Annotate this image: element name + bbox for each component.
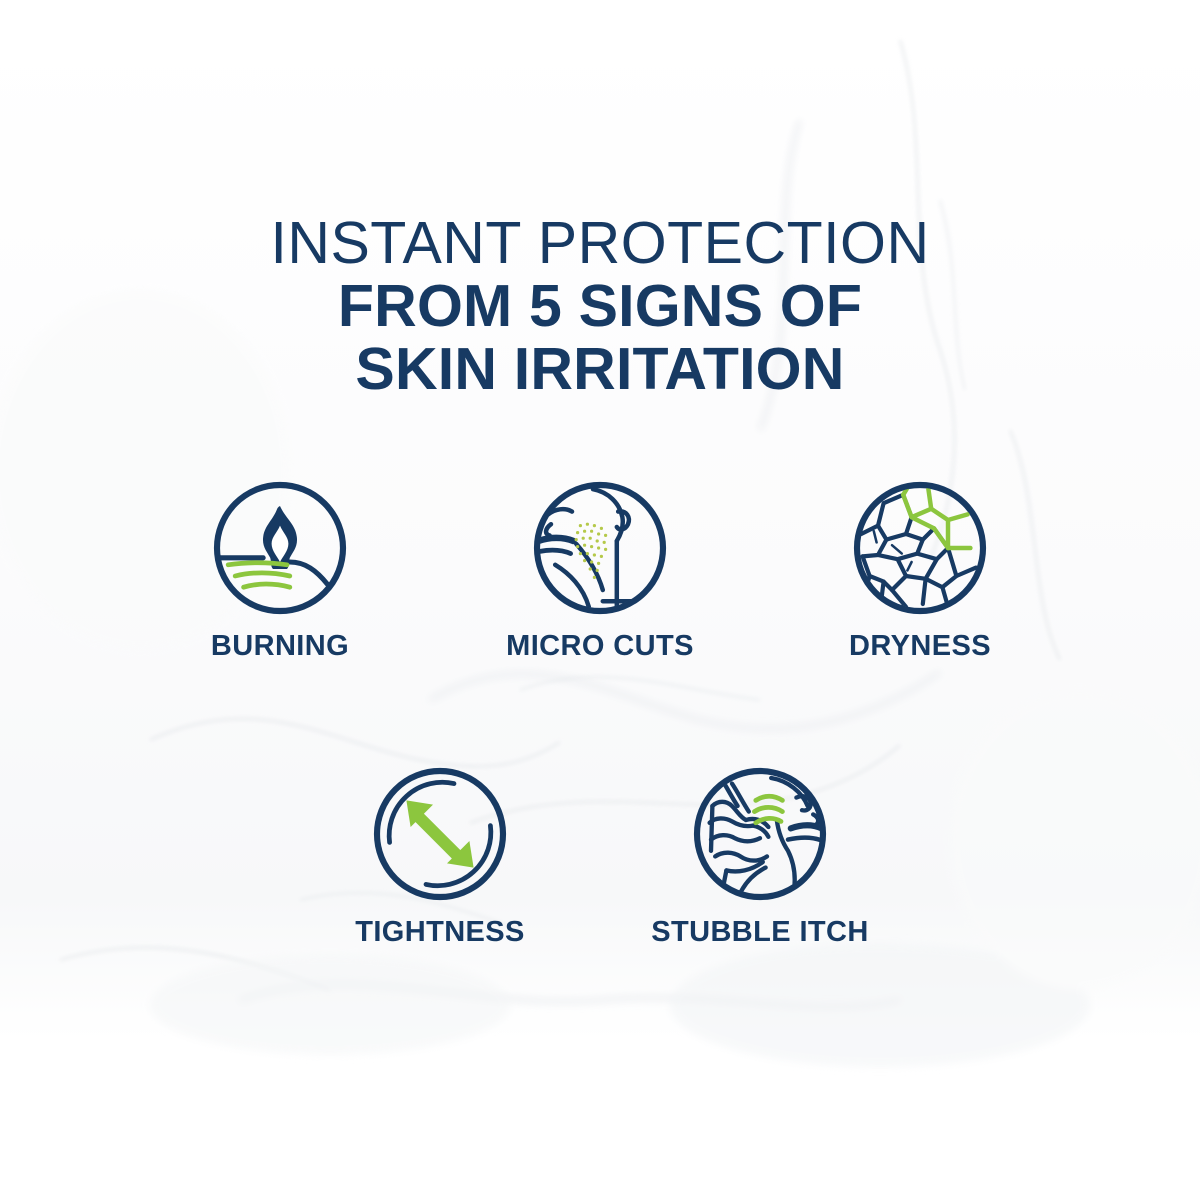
poster-canvas: INSTANT PROTECTION FROM 5 SIGNS OF SKIN … bbox=[0, 0, 1200, 1200]
sign-label-burning: BURNING bbox=[211, 630, 349, 663]
stubble-itch-scratching-icon bbox=[690, 764, 830, 904]
sign-item-dryness[interactable]: DRYNESS bbox=[830, 478, 1010, 663]
signs-row-top: BURNING bbox=[0, 478, 1200, 663]
page-title: INSTANT PROTECTION FROM 5 SIGNS OF SKIN … bbox=[0, 214, 1200, 403]
sign-item-micro-cuts[interactable]: MICRO CUTS bbox=[510, 478, 690, 663]
sign-item-burning[interactable]: BURNING bbox=[190, 478, 370, 663]
heading-line-2: FROM 5 SIGNS OF bbox=[0, 277, 1200, 340]
sign-item-stubble-itch[interactable]: STUBBLE ITCH bbox=[670, 764, 850, 949]
signs-row-bottom: TIGHTNESS bbox=[0, 764, 1200, 949]
heading-line-3: SKIN IRRITATION bbox=[0, 340, 1200, 403]
sign-label-stubble-itch: STUBBLE ITCH bbox=[651, 916, 868, 949]
micro-cuts-face-icon bbox=[530, 478, 670, 618]
heading-line-1: INSTANT PROTECTION bbox=[0, 214, 1200, 277]
sign-label-dryness: DRYNESS bbox=[849, 630, 991, 663]
burning-flame-icon bbox=[210, 478, 350, 618]
sign-item-tightness[interactable]: TIGHTNESS bbox=[350, 764, 530, 949]
sign-label-tightness: TIGHTNESS bbox=[355, 916, 525, 949]
sign-label-micro-cuts: MICRO CUTS bbox=[506, 630, 694, 663]
dryness-cracked-skin-icon bbox=[850, 478, 990, 618]
tightness-arrows-icon bbox=[370, 764, 510, 904]
